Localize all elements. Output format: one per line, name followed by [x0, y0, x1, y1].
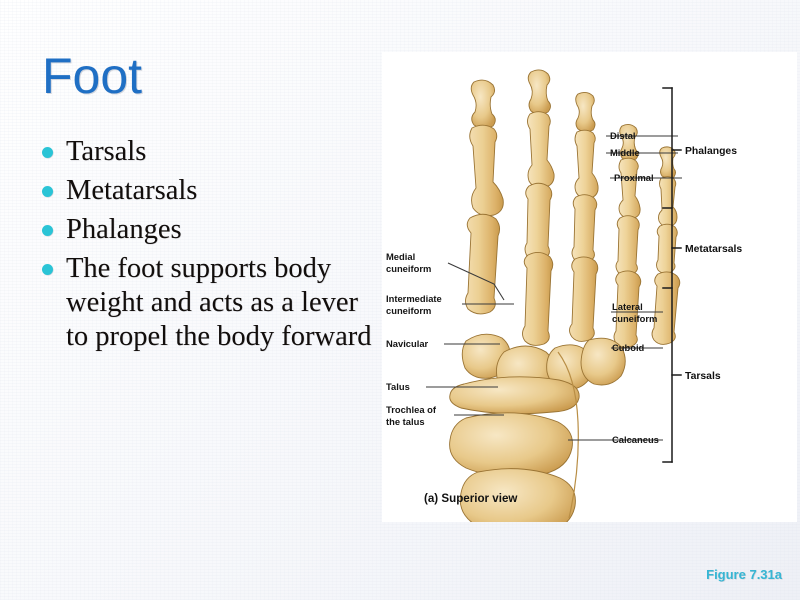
list-item-label: Metatarsals — [66, 175, 197, 206]
bracket-label-metatarsals: Metatarsals — [685, 244, 742, 255]
label-talus: Talus — [386, 381, 410, 392]
label-middle: Middle — [610, 147, 640, 158]
list-item: Metatarsals — [36, 174, 376, 208]
label-navicular: Navicular — [386, 338, 429, 349]
list-item: Phalanges — [36, 213, 376, 247]
bullet-marker-icon — [42, 186, 53, 197]
label-medial-cuneiform-line1: Medial — [386, 251, 415, 262]
foot-anatomy-illustration: Medial cuneiform Intermediate cuneiform … — [382, 52, 797, 522]
label-cuboid: Cuboid — [612, 342, 645, 353]
figure-caption: (a) Superior view — [424, 492, 518, 505]
bracket-label-tarsals: Tarsals — [685, 371, 721, 382]
figure-credit: Figure 7.31a — [706, 567, 782, 582]
label-lateral-cuneiform-line1: Lateral — [612, 301, 643, 312]
figure-panel: Medial cuneiform Intermediate cuneiform … — [382, 52, 797, 522]
label-lateral-cuneiform-line2: cuneiform — [612, 313, 657, 324]
bullet-marker-icon — [42, 225, 53, 236]
list-item-label: The foot supports body weight and acts a… — [66, 253, 372, 352]
bracket-label-phalanges: Phalanges — [685, 146, 737, 157]
bullet-list: Tarsals Metatarsals Phalanges The foot s… — [36, 135, 376, 358]
page-title: Foot — [42, 50, 142, 103]
label-trochlea-line2: the talus — [386, 416, 425, 427]
list-item: Tarsals — [36, 135, 376, 169]
bullet-marker-icon — [42, 264, 53, 275]
label-proximal: Proximal — [614, 172, 654, 183]
label-intermediate-cuneiform-line2: cuneiform — [386, 305, 431, 316]
list-item-label: Tarsals — [66, 136, 146, 167]
label-calcaneus: Calcaneus — [612, 434, 659, 445]
label-trochlea-line1: Trochlea of — [386, 404, 437, 415]
label-medial-cuneiform-line2: cuneiform — [386, 263, 431, 274]
bullet-marker-icon — [42, 147, 53, 158]
list-item-label: Phalanges — [66, 214, 182, 245]
label-intermediate-cuneiform-line1: Intermediate — [386, 293, 442, 304]
label-distal: Distal — [610, 130, 636, 141]
list-item: The foot supports body weight and acts a… — [36, 252, 376, 354]
